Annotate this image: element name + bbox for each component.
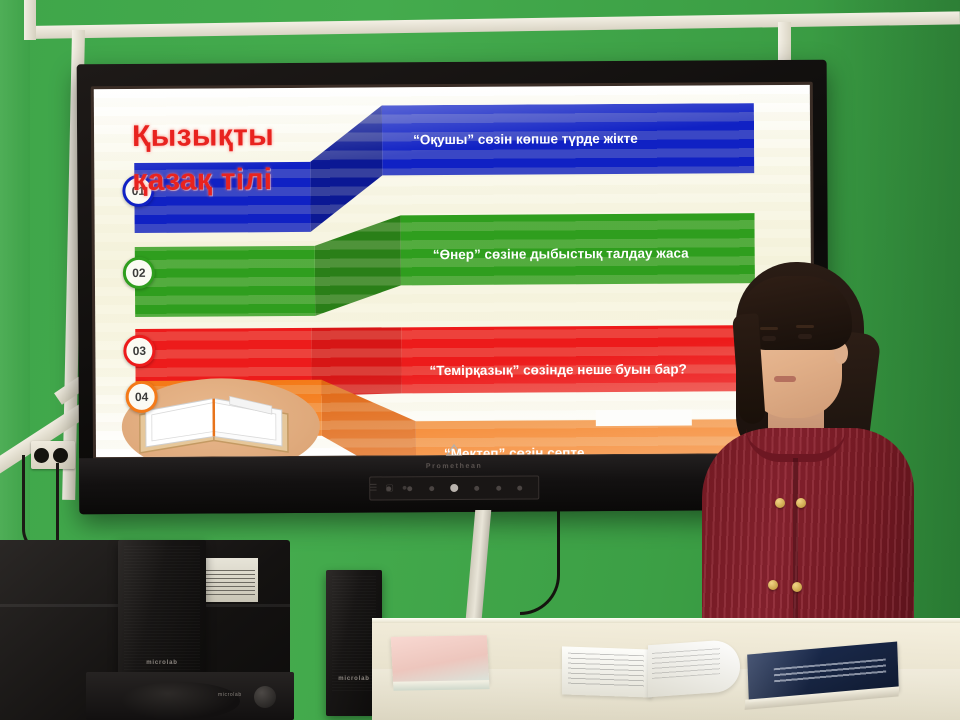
control-button-source[interactable] — [429, 486, 434, 491]
wall-trim-vertical-left — [24, 0, 36, 40]
port-icon-2: ▢ — [385, 482, 395, 493]
cardigan-button-1 — [775, 498, 785, 508]
notebook-on-desk — [391, 635, 490, 685]
port-icon-1: ☰ — [369, 482, 378, 493]
display-brand-label: Promethean — [426, 463, 483, 470]
display-side-ports: ☰ ▢ ● — [369, 482, 408, 493]
amplifier-brand: microlab — [218, 692, 242, 698]
eye-right — [798, 334, 812, 339]
control-button-back[interactable] — [517, 485, 522, 490]
control-button-menu[interactable] — [408, 486, 413, 491]
speaker-center-brand: microlab — [338, 676, 369, 682]
classroom-scene: “Оқушы” сөзін көпше түрде жікте 01 “Өнер… — [0, 0, 960, 720]
open-book-left-page — [562, 646, 652, 697]
amplifier-speaker-cone — [120, 682, 240, 720]
cardigan-button-2 — [796, 498, 806, 508]
eyebrow-right — [796, 325, 814, 328]
open-book-on-desk — [562, 636, 742, 702]
control-button-home[interactable] — [450, 484, 458, 492]
amplifier-volume-knob[interactable] — [254, 686, 276, 708]
open-book-right-text — [652, 648, 720, 679]
slide-title-line1: Қызықты — [132, 113, 372, 158]
slide-item-02-label: “Өнер” сөзіне дыбыстық талдау жаса — [407, 223, 727, 283]
speaker-left-grill — [124, 546, 200, 676]
eye-left — [762, 336, 776, 341]
slide-item-04-number: 04 — [126, 381, 158, 413]
slide-title-line2: қазақ тілі — [132, 157, 372, 202]
slide-item-01-label: “Оқушы” сөзін көпше түрде жікте — [387, 109, 707, 167]
slide-item-02-number: 02 — [123, 257, 155, 289]
speaker-left-brand: microlab — [146, 660, 177, 666]
open-book-left-text — [568, 653, 644, 688]
speaker-center-grill — [332, 576, 376, 692]
amplifier-unit[interactable]: microlab — [86, 672, 294, 720]
control-button-volume-up[interactable] — [474, 485, 479, 490]
slide-item-03-number: 03 — [123, 335, 155, 367]
notebook-pages — [393, 680, 490, 691]
open-book-right-page — [648, 639, 740, 697]
port-icon-3: ● — [402, 482, 409, 493]
cardigan-button-4 — [792, 582, 802, 592]
slide-item-03-label: “Темірқазық” сөзінде неше буын бар? — [403, 343, 733, 395]
desk-edge — [372, 618, 960, 623]
power-plug-right — [53, 448, 68, 463]
mouth — [774, 376, 796, 382]
cardigan-button-3 — [768, 580, 778, 590]
slide-title: Қызықты қазақ тілі — [132, 113, 373, 201]
control-button-volume-down[interactable] — [496, 485, 501, 490]
slide-overlay-patch — [596, 410, 692, 427]
eyebrow-left — [760, 327, 778, 330]
